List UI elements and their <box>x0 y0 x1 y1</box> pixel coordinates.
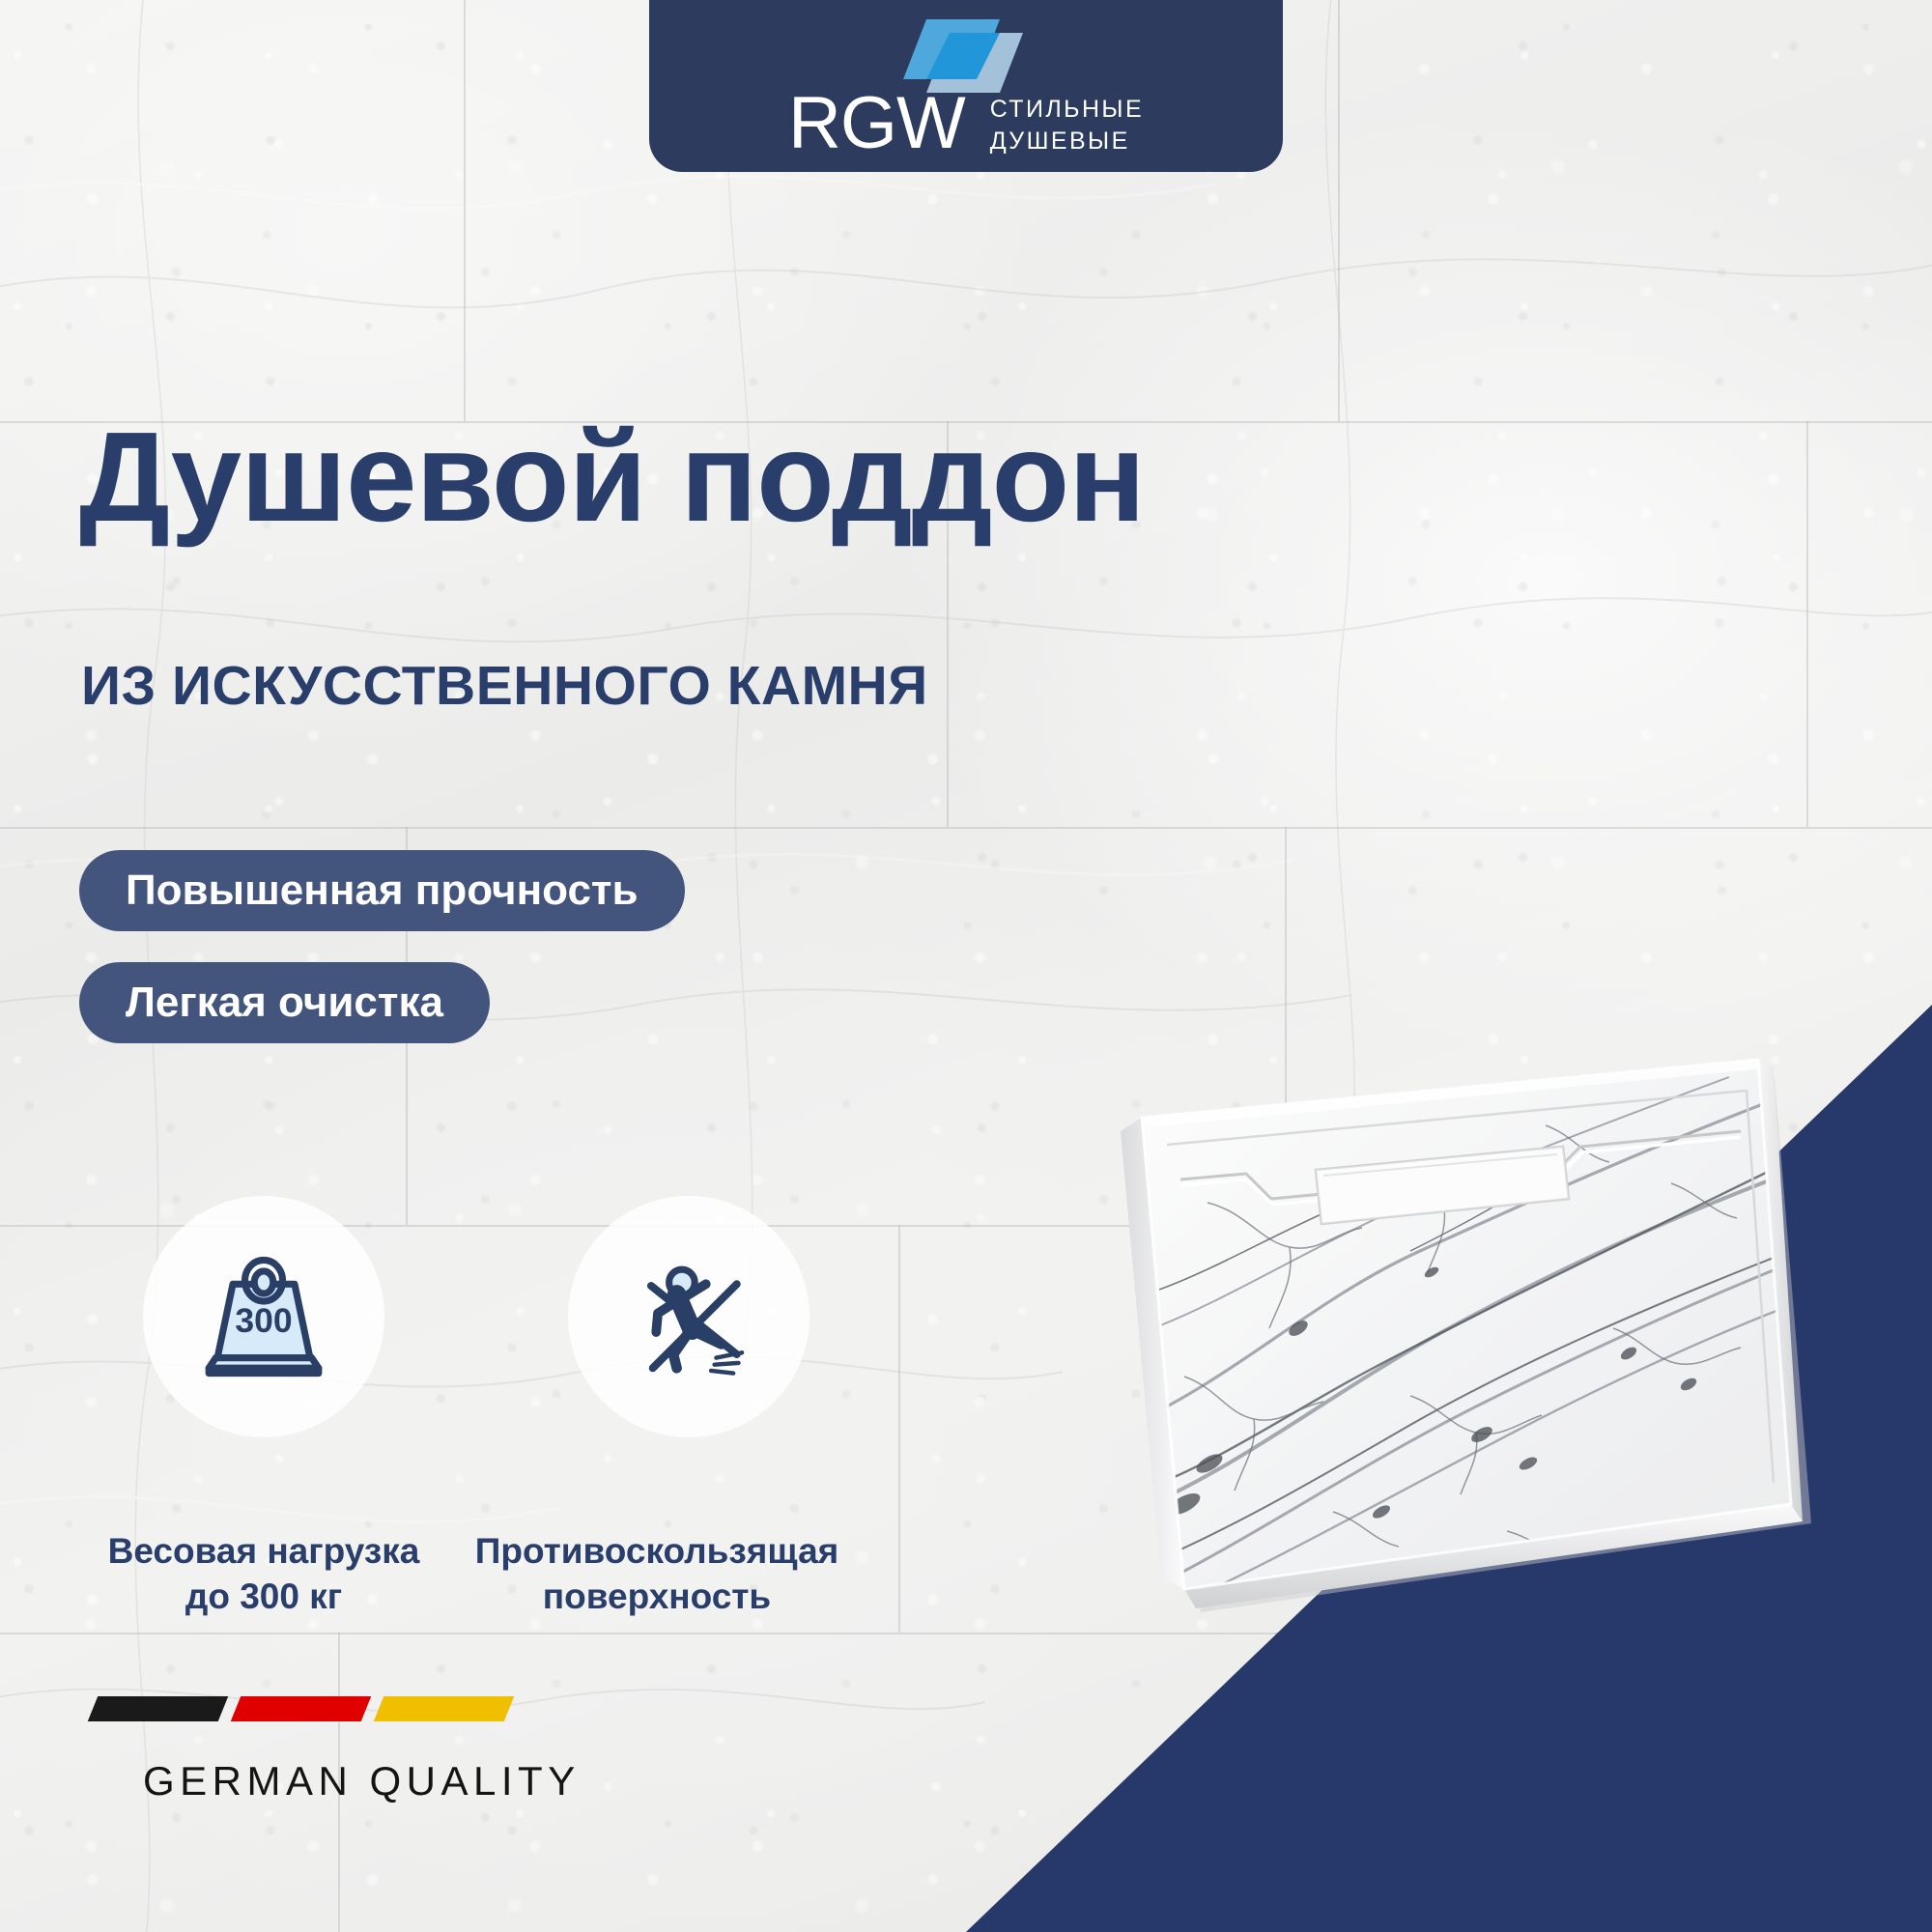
caption-weight-load: Весовая нагрузка до 300 кг <box>80 1528 447 1620</box>
weight-300-icon: 300 <box>195 1248 332 1385</box>
german-flag-stripes <box>93 1696 509 1721</box>
page-title: Душевой поддон <box>79 413 1145 541</box>
tile-seam <box>0 827 1932 829</box>
tile-seam <box>1338 0 1340 421</box>
poster-canvas: RGW СТИЛЬНЫЕ ДУШЕВЫЕ Душевой поддон ИЗ И… <box>0 0 1932 1932</box>
stripe-red <box>231 1696 372 1721</box>
stripe-yellow <box>374 1696 515 1721</box>
caption-anti-slip: Противоскользящая поверхность <box>473 1528 840 1620</box>
german-quality-label: GERMAN QUALITY <box>143 1758 581 1804</box>
brand-logo-badge[interactable]: RGW СТИЛЬНЫЕ ДУШЕВЫЕ <box>649 0 1283 172</box>
badge-weight-load: 300 <box>143 1196 384 1437</box>
feature-pill-strength[interactable]: Повышенная прочность <box>79 850 685 931</box>
logo-tagline-line2: ДУШЕВЫЕ <box>990 126 1144 157</box>
badge-anti-slip <box>568 1196 810 1437</box>
logo-tagline: СТИЛЬНЫЕ ДУШЕВЫЕ <box>990 90 1144 157</box>
page-subtitle: ИЗ ИСКУССТВЕННОГО КАМНЯ <box>81 659 928 714</box>
tile-seam <box>898 1225 900 1633</box>
feature-pill-cleaning[interactable]: Легкая очистка <box>79 962 490 1043</box>
stripe-black <box>88 1696 229 1721</box>
tile-seam <box>1806 421 1808 827</box>
logo-tagline-line1: СТИЛЬНЫЕ <box>990 94 1144 126</box>
weight-value: 300 <box>235 1301 292 1340</box>
product-image <box>1092 1009 1826 1628</box>
anti-slip-icon <box>620 1248 757 1385</box>
logo-wordmark: RGW <box>788 89 965 158</box>
rgw-mark-icon <box>894 15 1038 93</box>
caption-line-1: Весовая нагрузка <box>80 1528 447 1574</box>
caption-line-2: до 300 кг <box>80 1574 447 1619</box>
caption-line-1: Противоскользящая <box>473 1528 840 1574</box>
tile-seam <box>464 0 466 421</box>
caption-line-2: поверхность <box>473 1574 840 1619</box>
